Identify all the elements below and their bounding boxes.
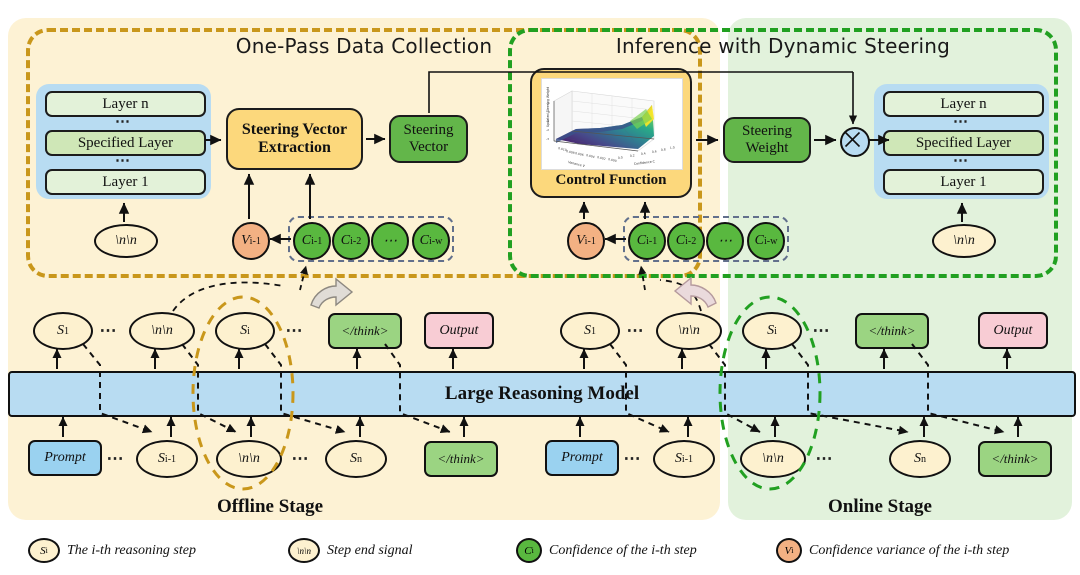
online-variance-sub: i-1: [585, 236, 596, 247]
steering-vector-label-line2: Vector: [409, 139, 448, 156]
offline-variance-glyph: V: [241, 233, 250, 249]
online-top-step-1-glyph: S: [584, 323, 591, 339]
legend-var-glyph: V: [785, 545, 792, 557]
offline-bottom-step-n-sub: n: [357, 454, 362, 465]
legend-variance-text: Confidence variance of the i-th step: [809, 543, 1009, 559]
legend-stepend-glyph: \n\n: [297, 546, 311, 556]
online-stage-label: Online Stage: [740, 496, 1020, 518]
offline-layer-bottom[interactable]: Layer 1: [45, 169, 206, 195]
online-top-step-i-glyph: S: [767, 323, 774, 339]
online-conf-dots-glyph: ⋯: [718, 233, 732, 250]
offline-stage-label: Offline Stage: [130, 496, 410, 518]
svg-text:0.6: 0.6: [652, 149, 657, 154]
offline-layer-input-newline-node[interactable]: \n\n: [94, 224, 158, 258]
online-variance-glyph: V: [576, 233, 585, 249]
legend-item-variance: Vi Confidence variance of the i-th step: [776, 538, 1009, 563]
online-confidence-node-w[interactable]: Ci-w: [747, 222, 785, 260]
online-top-dots-2: ⋯: [809, 321, 835, 341]
online-top-step-i-sub: i: [774, 326, 777, 337]
offline-confidence-node-2[interactable]: Ci-2: [332, 222, 370, 260]
legend-step-text: The i-th reasoning step: [67, 543, 196, 559]
online-bottom-newline-node[interactable]: \n\n: [740, 440, 806, 478]
offline-bottom-dots-2: ⋯: [288, 449, 314, 469]
legend-var-sub: i: [791, 546, 793, 555]
offline-output-node[interactable]: Output: [424, 312, 494, 349]
offline-bottom-step-i-1-glyph: S: [158, 451, 165, 467]
offline-variance-sub: i-1: [250, 236, 261, 247]
legend-item-confidence: Ci Confidence of the i-th step: [516, 538, 697, 563]
online-conf-1-glyph: C: [637, 233, 646, 249]
online-top-newline-node[interactable]: \n\n: [656, 312, 722, 350]
offline-top-dots-1: ⋯: [96, 321, 122, 341]
online-panel-title: Inference with Dynamic Steering: [508, 34, 1058, 58]
offline-confidence-node-ellipsis: ⋯: [371, 222, 409, 260]
legend: Si The i-th reasoning step \n\n Step end…: [0, 528, 1080, 575]
offline-bottom-newline-node[interactable]: \n\n: [216, 440, 282, 478]
online-conf-1-sub: i-1: [646, 236, 657, 247]
legend-item-stepend: \n\n Step end signal: [288, 538, 413, 563]
offline-top-dots-2: ⋯: [282, 321, 308, 341]
offline-top-step-1[interactable]: S1: [33, 312, 93, 350]
online-confidence-node-2[interactable]: Ci-2: [667, 222, 705, 260]
svg-text:Updated Steering Weight: Updated Steering Weight: [546, 86, 550, 127]
online-layer-dots-upper: ⋯: [883, 112, 1040, 131]
offline-conf-1-sub: i-1: [311, 236, 322, 247]
offline-confidence-node-1[interactable]: Ci-1: [293, 222, 331, 260]
legend-item-step: Si The i-th reasoning step: [28, 538, 196, 563]
offline-bottom-step-i-1-sub: i-1: [165, 454, 176, 465]
online-variance-node[interactable]: Vi-1: [567, 222, 605, 260]
online-top-think-close[interactable]: </think>: [855, 313, 929, 349]
svg-text:0.0: 0.0: [618, 155, 623, 160]
offline-layer-dots-lower: ⋯: [45, 151, 202, 170]
multiply-node[interactable]: [840, 127, 870, 157]
offline-prompt-node[interactable]: Prompt: [28, 440, 102, 476]
online-bottom-step-n[interactable]: Sn: [889, 440, 951, 478]
steering-weight-label-line1: Steering: [742, 123, 792, 140]
svg-text:1.0: 1.0: [670, 145, 675, 150]
newline-ellipse-icon: \n\n: [288, 538, 320, 563]
control-function-surface-plot: 10 -1-2-3 0.010 0.008 0.006 0.004 0.002 …: [541, 78, 683, 170]
online-bottom-step-i-1-sub: i-1: [682, 454, 693, 465]
offline-bottom-step-n-glyph: S: [350, 451, 357, 467]
steering-vector-block[interactable]: Steering Vector: [389, 115, 468, 163]
offline-bottom-dots-1: ⋯: [103, 449, 129, 469]
online-confidence-node-1[interactable]: Ci-1: [628, 222, 666, 260]
online-bottom-think-close[interactable]: </think>: [978, 441, 1052, 477]
online-top-step-1-sub: 1: [591, 326, 596, 337]
legend-stepend-text: Step end signal: [327, 543, 413, 559]
large-reasoning-model-bar[interactable]: Large Reasoning Model: [8, 371, 1076, 417]
online-bottom-dots-2: ⋯: [812, 449, 838, 469]
offline-top-step-i-sub: i: [247, 326, 250, 337]
online-bottom-dots-1: ⋯: [620, 449, 646, 469]
steering-vector-label-line1: Steering: [404, 122, 454, 139]
online-top-dots-1: ⋯: [623, 321, 649, 341]
extraction-label-line1: Steering Vector: [242, 121, 347, 139]
steering-weight-block[interactable]: Steering Weight: [723, 117, 811, 163]
steering-vector-extraction-block[interactable]: Steering Vector Extraction: [226, 108, 363, 170]
offline-top-newline-node[interactable]: \n\n: [129, 312, 195, 350]
offline-top-step-i-glyph: S: [240, 323, 247, 339]
offline-conf-2-sub: i-2: [350, 236, 361, 247]
offline-conf-w-sub: i-w: [429, 236, 442, 247]
online-bottom-step-i-1-glyph: S: [675, 451, 682, 467]
offline-top-step-1-sub: 1: [64, 326, 69, 337]
online-conf-w-sub: i-w: [764, 236, 777, 247]
svg-text:-2: -2: [546, 128, 549, 132]
steering-weight-label-line2: Weight: [746, 140, 789, 157]
online-bottom-step-i-1[interactable]: Si-1: [653, 440, 715, 478]
online-layer-bottom[interactable]: Layer 1: [883, 169, 1044, 195]
offline-bottom-step-i-1[interactable]: Si-1: [136, 440, 198, 478]
offline-confidence-node-w[interactable]: Ci-w: [412, 222, 450, 260]
svg-text:-3: -3: [546, 137, 549, 141]
online-conf-2-sub: i-2: [685, 236, 696, 247]
confidence-circle-icon: Ci: [516, 538, 542, 563]
offline-conf-2-glyph: C: [341, 233, 350, 249]
online-output-node[interactable]: Output: [978, 312, 1048, 349]
offline-conf-1-glyph: C: [302, 233, 311, 249]
legend-conf-sub: i: [532, 546, 534, 555]
online-layer-dots-lower: ⋯: [883, 151, 1040, 170]
online-conf-2-glyph: C: [676, 233, 685, 249]
offline-top-step-1-glyph: S: [57, 323, 64, 339]
online-conf-w-glyph: C: [755, 233, 764, 249]
online-layer-input-newline-node[interactable]: \n\n: [932, 224, 996, 258]
offline-top-think-close[interactable]: </think>: [328, 313, 402, 349]
svg-text:0.8: 0.8: [661, 147, 666, 152]
online-bottom-step-n-glyph: S: [914, 451, 921, 467]
online-prompt-node[interactable]: Prompt: [545, 440, 619, 476]
online-bottom-step-n-sub: n: [921, 454, 926, 465]
variance-circle-icon: Vi: [776, 538, 802, 563]
offline-top-step-i[interactable]: Si: [215, 312, 275, 350]
offline-bottom-think-close[interactable]: </think>: [424, 441, 498, 477]
legend-conf-glyph: C: [524, 545, 531, 557]
offline-conf-w-glyph: C: [420, 233, 429, 249]
offline-variance-node[interactable]: Vi-1: [232, 222, 270, 260]
s-ellipse-icon: Si: [28, 538, 60, 563]
legend-step-sub: i: [46, 546, 48, 555]
extraction-label-line2: Extraction: [258, 139, 331, 157]
svg-text:0.4: 0.4: [641, 151, 646, 156]
online-confidence-node-ellipsis: ⋯: [706, 222, 744, 260]
offline-conf-dots-glyph: ⋯: [383, 233, 397, 250]
online-top-step-i[interactable]: Si: [742, 312, 802, 350]
offline-bottom-step-n[interactable]: Sn: [325, 440, 387, 478]
control-function-label: Control Function: [530, 172, 692, 189]
online-top-step-1[interactable]: S1: [560, 312, 620, 350]
legend-confidence-text: Confidence of the i-th step: [549, 543, 697, 559]
offline-layer-dots-upper: ⋯: [45, 112, 202, 131]
svg-text:0.2: 0.2: [630, 153, 635, 158]
